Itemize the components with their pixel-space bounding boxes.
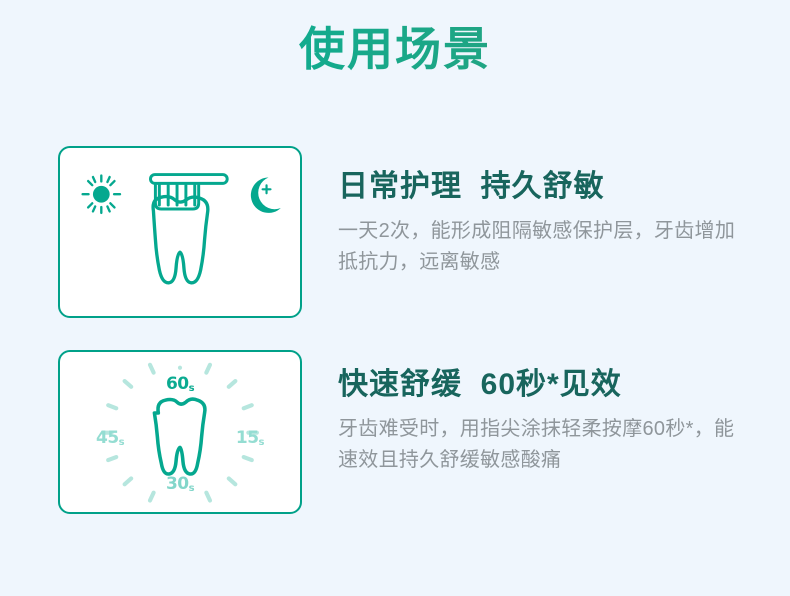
daily-care-illustration: [60, 148, 300, 317]
page-title: 使用场景: [0, 22, 790, 77]
illustration-card-fast-relief: 60s 15s 30s 45s: [58, 350, 302, 514]
sun-icon: [83, 176, 120, 213]
headline-daily-care: 日常护理 持久舒敏: [338, 168, 752, 206]
toothbrush-icon: [150, 175, 227, 209]
scenario-section-daily-care: 日常护理 持久舒敏 一天2次，能形成阻隔敏感保护层，牙齿增加抵抗力，远离敏感: [58, 146, 752, 318]
body-daily-care: 一天2次，能形成阻隔敏感保护层，牙齿增加抵抗力，远离敏感: [338, 216, 752, 278]
dial-label-15: 15s: [236, 428, 264, 448]
tooth-icon: [154, 399, 205, 474]
dial-label-45: 45s: [96, 428, 124, 448]
moon-icon: [251, 178, 281, 213]
body-fast-relief: 牙齿难受时，用指尖涂抹轻柔按摩60秒*，能速效且持久舒缓敏感酸痛: [338, 414, 752, 476]
dial-label-60: 60s: [166, 374, 194, 394]
illustration-card-daily-care: [58, 146, 302, 318]
text-block-fast-relief: 快速舒缓 60秒*见效 牙齿难受时，用指尖涂抹轻柔按摩60秒*，能速效且持久舒缓…: [338, 350, 752, 476]
headline-fast-relief: 快速舒缓 60秒*见效: [338, 366, 752, 404]
text-block-daily-care: 日常护理 持久舒敏 一天2次，能形成阻隔敏感保护层，牙齿增加抵抗力，远离敏感: [338, 146, 752, 278]
dial-label-30: 30s: [166, 474, 194, 494]
scenario-section-fast-relief: 60s 15s 30s 45s 快速舒缓 60秒*见效 牙齿难受时，用指尖涂抹轻…: [58, 350, 752, 514]
